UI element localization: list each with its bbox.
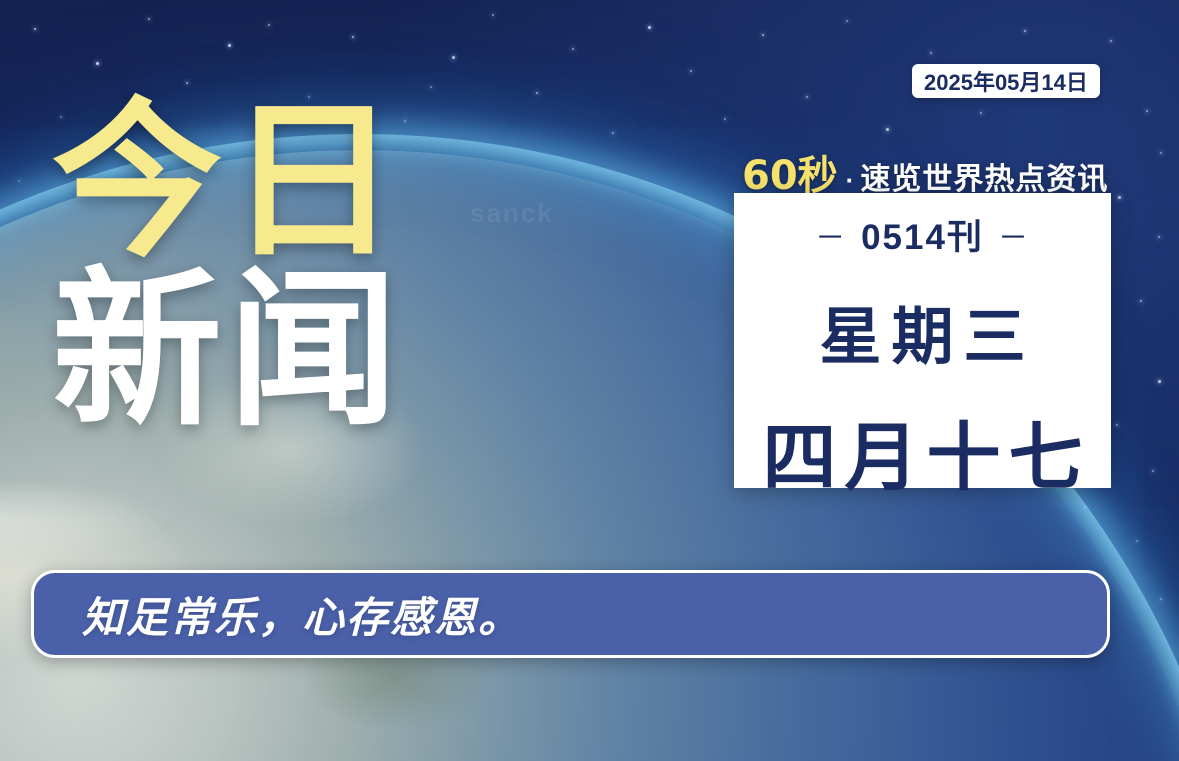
title-line-2: 新闻	[52, 270, 404, 433]
weekday-label: 星期三	[809, 286, 1035, 376]
issue-row: － 0514刊 －	[815, 209, 1030, 260]
news-poster: sanck 今日 新闻 2025年05月14日 60秒 · 速览世界热点资讯 －…	[0, 0, 1179, 761]
issue-number: 0514刊	[861, 209, 984, 260]
tagline-separator-icon: ·	[846, 165, 855, 196]
date-badge: 2025年05月14日	[912, 64, 1100, 98]
watermark-text: sanck	[470, 198, 554, 229]
tagline-text: 速览世界热点资讯	[860, 154, 1108, 198]
title-line-1: 今日	[52, 101, 404, 264]
dash-left-icon: －	[815, 213, 847, 257]
quote-banner: 知足常乐，心存感恩。	[31, 570, 1110, 658]
lunar-date-label: 四月十七	[755, 398, 1091, 505]
dash-right-icon: －	[998, 213, 1030, 257]
page-title: 今日 新闻	[52, 101, 404, 433]
date-info-card: － 0514刊 － 星期三 四月十七	[734, 193, 1111, 488]
quote-text: 知足常乐，心存感恩。	[82, 584, 522, 645]
